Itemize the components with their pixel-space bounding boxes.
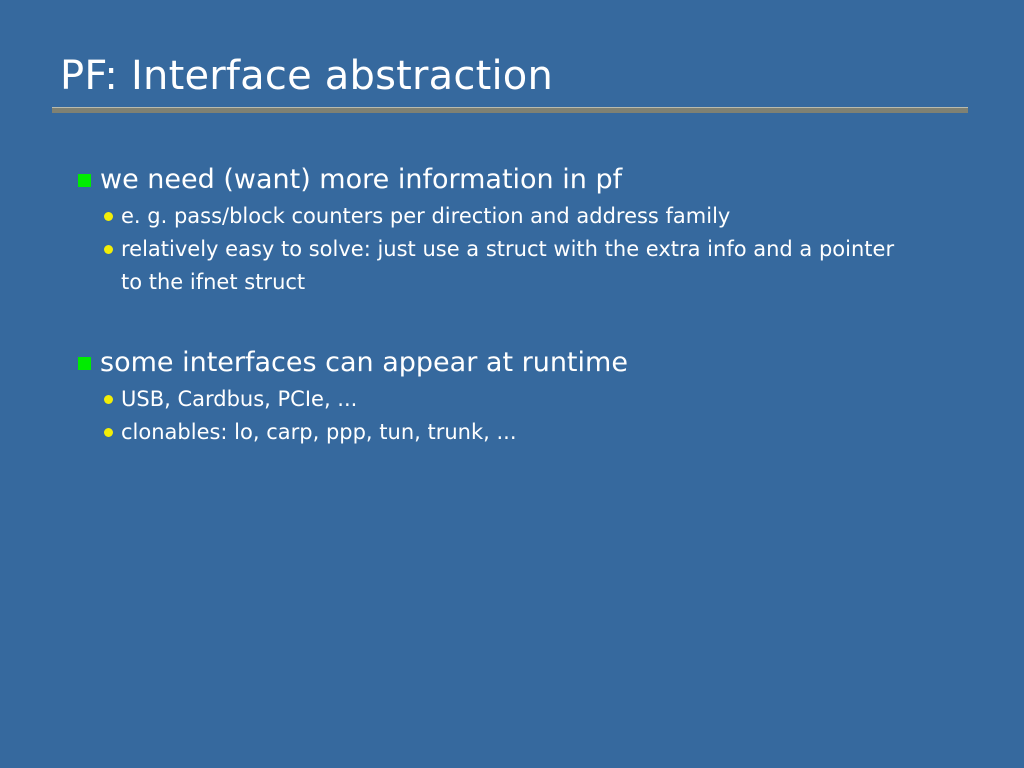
dot-bullet-icon (104, 395, 113, 404)
bullet-level2-label: USB, Cardbus, PCIe, ... (121, 383, 357, 416)
presentation-slide: PF: Interface abstraction we need (want)… (0, 0, 1024, 768)
dot-bullet-icon (104, 212, 113, 221)
bullet-level1: we need (want) more information in pf (78, 162, 978, 198)
page-title: PF: Interface abstraction (52, 52, 968, 100)
bullet-level2-label: clonables: lo, carp, ppp, tun, trunk, ..… (121, 416, 517, 449)
bullet-level1-label: some interfaces can appear at runtime (100, 345, 628, 381)
bullet-level2-label: relatively easy to solve: just use a str… (121, 233, 916, 299)
bullet-level2: relatively easy to solve: just use a str… (104, 233, 978, 299)
title-underline-rule (52, 107, 968, 113)
title-block: PF: Interface abstraction (52, 52, 968, 113)
bullet-level2: USB, Cardbus, PCIe, ... (104, 383, 978, 416)
dot-bullet-icon (104, 245, 113, 254)
bullet-level2-label: e. g. pass/block counters per direction … (121, 200, 730, 233)
bullet-group-1: we need (want) more information in pf e.… (78, 162, 978, 299)
bullet-level1: some interfaces can appear at runtime (78, 345, 978, 381)
square-bullet-icon (78, 174, 91, 187)
bullet-level2: e. g. pass/block counters per direction … (104, 200, 978, 233)
bullet-level2: clonables: lo, carp, ppp, tun, trunk, ..… (104, 416, 978, 449)
square-bullet-icon (78, 357, 91, 370)
dot-bullet-icon (104, 428, 113, 437)
slide-body: we need (want) more information in pf e.… (78, 162, 978, 449)
bullet-level1-label: we need (want) more information in pf (100, 162, 622, 198)
bullet-group-2: some interfaces can appear at runtime US… (78, 345, 978, 449)
